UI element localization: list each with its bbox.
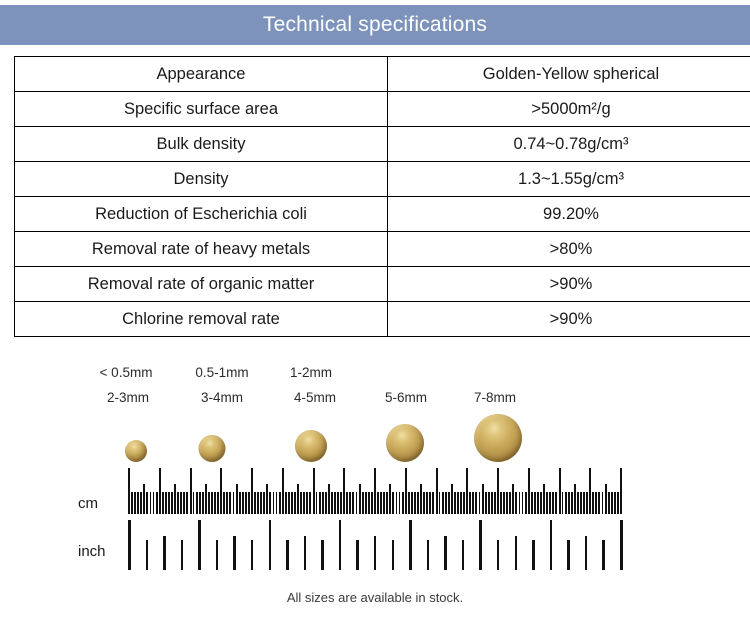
ruler-tick-cm	[436, 468, 438, 514]
size-label: 2-3mm	[107, 390, 149, 405]
ruler-tick-cm	[177, 492, 179, 514]
ruler-tick-cm	[497, 468, 499, 514]
ruler-tick-cm	[263, 492, 265, 514]
ruler-tick-cm	[540, 492, 542, 514]
ruler-tick-cm	[543, 484, 545, 514]
ruler-tick-cm	[420, 484, 422, 514]
ruler-tick-cm	[279, 492, 281, 514]
ruler-tick-cm	[180, 492, 182, 514]
ruler-tick-cm	[183, 492, 185, 514]
ruler-tick-cm	[494, 492, 496, 514]
ruler-tick-cm	[589, 468, 591, 514]
ruler-tick-cm	[525, 492, 527, 514]
ruler-tick-cm	[479, 492, 481, 514]
ruler-tick-cm	[254, 492, 256, 514]
spec-value-cell: 0.74~0.78g/cm³	[388, 127, 750, 162]
spec-label-cell: Bulk density	[15, 127, 388, 162]
ruler-tick-cm	[319, 492, 321, 514]
sphere-sample-7-8mm	[474, 414, 522, 462]
ruler-tick-cm	[469, 492, 471, 514]
ruler-tick-cm	[549, 492, 551, 514]
ruler-tick-cm	[371, 492, 373, 514]
ruler-tick-cm	[577, 492, 579, 514]
ruler-tick-cm	[620, 468, 622, 514]
ruler-tick-cm	[140, 492, 142, 514]
ruler-tick-cm	[531, 492, 533, 514]
ruler-tick-cm	[611, 492, 613, 514]
ruler-tick-inch	[462, 540, 464, 570]
ruler-inch: inch	[0, 518, 750, 570]
ruler-tick-cm	[552, 492, 554, 514]
ruler-tick-cm	[399, 492, 401, 514]
ruler-tick-cm	[562, 492, 564, 514]
size-label: 1-2mm	[290, 365, 332, 380]
spec-label-cell: Appearance	[15, 57, 388, 92]
ruler-tick-cm	[162, 492, 164, 514]
ruler-tick-cm	[392, 492, 394, 514]
page-title: Technical specifications	[263, 13, 487, 37]
ruler-tick-cm	[365, 492, 367, 514]
ruler-tick-cm	[506, 492, 508, 514]
technical-specifications-table: AppearanceGolden-Yellow sphericalSpecifi…	[14, 56, 750, 337]
ruler-tick-cm	[285, 492, 287, 514]
ruler-tick-cm	[389, 484, 391, 514]
ruler-tick-cm	[512, 484, 514, 514]
ruler-tick-cm	[174, 484, 176, 514]
ruler-tick-cm	[534, 492, 536, 514]
spec-value-cell: Golden-Yellow spherical	[388, 57, 750, 92]
table-row: Chlorine removal rate>90%	[15, 302, 750, 337]
table-row: Density1.3~1.55g/cm³	[15, 162, 750, 197]
ruler-tick-cm	[362, 492, 364, 514]
ruler-tick-cm	[463, 492, 465, 514]
ruler-tick-cm	[571, 492, 573, 514]
ruler-tick-cm	[559, 468, 561, 514]
ruler-tick-cm	[322, 492, 324, 514]
ruler-tick-cm	[454, 492, 456, 514]
ruler-tick-inch	[427, 540, 429, 570]
spec-table-container: AppearanceGolden-Yellow sphericalSpecifi…	[14, 56, 736, 337]
ruler-tick-cm	[220, 468, 222, 514]
ruler-tick-cm	[196, 492, 198, 514]
ruler-tick-cm	[503, 492, 505, 514]
size-chart: < 0.5mm0.5-1mm1-2mm 2-3mm3-4mm4-5mm5-6mm…	[0, 352, 750, 621]
ruler-tick-cm	[340, 492, 342, 514]
ruler-tick-inch	[497, 540, 499, 570]
ruler-tick-cm	[226, 492, 228, 514]
ruler-tick-cm	[574, 484, 576, 514]
ruler-tick-cm	[605, 484, 607, 514]
ruler-tick-cm	[346, 492, 348, 514]
spec-value-cell: >80%	[388, 232, 750, 267]
ruler-tick-cm	[242, 492, 244, 514]
ruler-tick-cm	[500, 492, 502, 514]
table-row: Removal rate of organic matter>90%	[15, 267, 750, 302]
ruler-tick-cm	[291, 492, 293, 514]
ruler-tick-cm	[282, 468, 284, 514]
ruler-tick-cm	[190, 468, 192, 514]
ruler-tick-cm	[236, 484, 238, 514]
ruler-tick-cm	[408, 492, 410, 514]
ruler-tick-cm	[248, 492, 250, 514]
ruler-tick-cm	[614, 492, 616, 514]
ruler-tick-cm	[325, 492, 327, 514]
ruler-tick-cm	[488, 492, 490, 514]
ruler-tick-cm	[131, 492, 133, 514]
ruler-tick-inch	[339, 520, 342, 570]
ruler-tick-inch	[374, 536, 376, 570]
ruler-tick-cm	[598, 492, 600, 514]
ruler-tick-inch	[286, 540, 288, 570]
ruler-cm-ticks	[128, 466, 620, 514]
ruler-tick-cm	[380, 492, 382, 514]
ruler-tick-inch	[128, 520, 131, 570]
size-label: 3-4mm	[201, 390, 243, 405]
ruler-tick-cm	[349, 492, 351, 514]
ruler-tick-cm	[276, 492, 278, 514]
table-row: Removal rate of heavy metals>80%	[15, 232, 750, 267]
ruler-tick-cm	[485, 492, 487, 514]
header-banner: Technical specifications	[0, 5, 750, 45]
ruler-tick-cm	[356, 492, 358, 514]
ruler-tick-inch	[532, 540, 534, 570]
ruler-tick-cm	[199, 492, 201, 514]
ruler-tick-cm	[515, 492, 517, 514]
ruler-tick-cm	[294, 492, 296, 514]
ruler-tick-cm	[309, 492, 311, 514]
ruler-tick-cm	[128, 468, 130, 514]
ruler-tick-cm	[245, 492, 247, 514]
ruler-tick-cm	[368, 492, 370, 514]
table-row: Bulk density0.74~0.78g/cm³	[15, 127, 750, 162]
ruler-tick-cm	[445, 492, 447, 514]
ruler-tick-cm	[205, 484, 207, 514]
ruler-tick-cm	[359, 484, 361, 514]
ruler-tick-inch	[515, 536, 517, 570]
ruler-tick-cm	[555, 492, 557, 514]
spec-value-cell: 1.3~1.55g/cm³	[388, 162, 750, 197]
ruler-tick-cm	[266, 484, 268, 514]
ruler-tick-inch	[198, 520, 201, 570]
ruler-tick-inch	[321, 540, 323, 570]
ruler-tick-cm	[159, 468, 161, 514]
ruler-tick-cm	[423, 492, 425, 514]
ruler-tick-cm	[211, 492, 213, 514]
ruler-tick-cm	[405, 468, 407, 514]
ruler-tick-cm	[223, 492, 225, 514]
ruler-tick-cm	[617, 492, 619, 514]
ruler-tick-cm	[451, 484, 453, 514]
ruler-tick-inch	[585, 536, 587, 570]
ruler-tick-cm	[214, 492, 216, 514]
ruler-tick-cm	[546, 492, 548, 514]
ruler-tick-cm	[429, 492, 431, 514]
ruler-tick-cm	[239, 492, 241, 514]
ruler-tick-inch	[392, 540, 394, 570]
ruler-tick-cm	[377, 492, 379, 514]
table-row: Reduction of Escherichia coli99.20%	[15, 197, 750, 232]
ruler-tick-cm	[396, 492, 398, 514]
table-body: AppearanceGolden-Yellow sphericalSpecifi…	[15, 57, 750, 337]
ruler-tick-cm	[482, 484, 484, 514]
ruler-tick-cm	[472, 492, 474, 514]
ruler-tick-cm	[334, 492, 336, 514]
ruler-tick-cm	[595, 492, 597, 514]
ruler-tick-cm	[288, 492, 290, 514]
ruler-tick-cm	[300, 492, 302, 514]
ruler-tick-cm	[565, 492, 567, 514]
ruler-tick-inch	[602, 540, 604, 570]
spec-value-cell: >5000m²/g	[388, 92, 750, 127]
ruler-tick-cm	[251, 468, 253, 514]
ruler-tick-cm	[229, 492, 231, 514]
sphere-sample-3-4mm	[199, 435, 226, 462]
ruler-cm: cm	[0, 464, 750, 514]
ruler-tick-inch	[269, 520, 272, 570]
ruler-tick-cm	[528, 468, 530, 514]
ruler-tick-cm	[193, 492, 195, 514]
ruler-tick-cm	[156, 492, 158, 514]
ruler-tick-inch	[479, 520, 482, 570]
ruler-tick-cm	[383, 492, 385, 514]
size-labels-row-top: < 0.5mm0.5-1mm1-2mm	[0, 365, 750, 385]
ruler-tick-cm	[432, 492, 434, 514]
ruler-tick-inch	[304, 536, 306, 570]
size-label: < 0.5mm	[100, 365, 153, 380]
ruler-tick-cm	[328, 484, 330, 514]
ruler-tick-inch	[409, 520, 412, 570]
ruler-tick-inch	[146, 540, 148, 570]
ruler-tick-cm	[586, 492, 588, 514]
ruler-tick-cm	[374, 468, 376, 514]
ruler-tick-cm	[343, 468, 345, 514]
ruler-tick-cm	[165, 492, 167, 514]
ruler-tick-cm	[273, 492, 275, 514]
ruler-tick-cm	[150, 492, 152, 514]
ruler-tick-cm	[153, 492, 155, 514]
ruler-tick-inch	[444, 536, 446, 570]
size-label: 7-8mm	[474, 390, 516, 405]
ruler-tick-inch	[216, 540, 218, 570]
ruler-tick-cm	[602, 492, 604, 514]
size-labels-row-bottom: 2-3mm3-4mm4-5mm5-6mm7-8mm	[0, 390, 750, 410]
table-row: AppearanceGolden-Yellow spherical	[15, 57, 750, 92]
ruler-tick-inch	[550, 520, 553, 570]
ruler-tick-cm	[316, 492, 318, 514]
ruler-tick-cm	[522, 492, 524, 514]
ruler-tick-cm	[426, 492, 428, 514]
ruler-inch-label: inch	[78, 543, 106, 560]
size-label: 5-6mm	[385, 390, 427, 405]
ruler-cm-label: cm	[78, 495, 98, 512]
ruler-tick-cm	[580, 492, 582, 514]
ruler-tick-cm	[519, 492, 521, 514]
ruler-tick-inch	[181, 540, 183, 570]
spec-value-cell: >90%	[388, 302, 750, 337]
ruler-tick-cm	[297, 484, 299, 514]
ruler-tick-cm	[352, 492, 354, 514]
ruler-tick-cm	[475, 492, 477, 514]
ruler-tick-cm	[208, 492, 210, 514]
ruler-tick-cm	[608, 492, 610, 514]
size-label: 4-5mm	[294, 390, 336, 405]
ruler-tick-cm	[414, 492, 416, 514]
ruler-tick-cm	[568, 492, 570, 514]
ruler-tick-cm	[448, 492, 450, 514]
ruler-tick-cm	[171, 492, 173, 514]
ruler-tick-cm	[509, 492, 511, 514]
ruler-tick-inch	[356, 540, 358, 570]
ruler-tick-cm	[217, 492, 219, 514]
spec-value-cell: 99.20%	[388, 197, 750, 232]
ruler-tick-inch	[567, 540, 569, 570]
ruler-tick-cm	[386, 492, 388, 514]
ruler-tick-cm	[537, 492, 539, 514]
ruler-tick-cm	[402, 492, 404, 514]
ruler-tick-inch	[620, 520, 623, 570]
spec-label-cell: Removal rate of heavy metals	[15, 232, 388, 267]
ruler-tick-cm	[233, 492, 235, 514]
spec-label-cell: Reduction of Escherichia coli	[15, 197, 388, 232]
ruler-tick-cm	[202, 492, 204, 514]
ruler-tick-cm	[134, 492, 136, 514]
spec-value-cell: >90%	[388, 267, 750, 302]
spec-label-cell: Removal rate of organic matter	[15, 267, 388, 302]
ruler-tick-cm	[457, 492, 459, 514]
ruler-tick-cm	[583, 492, 585, 514]
size-label: 0.5-1mm	[195, 365, 248, 380]
ruler-inch-ticks	[128, 520, 620, 570]
sphere-sample-4-5mm	[295, 430, 327, 462]
ruler-tick-cm	[460, 492, 462, 514]
ruler-tick-cm	[303, 492, 305, 514]
stock-availability-caption: All sizes are available in stock.	[0, 590, 750, 605]
ruler-tick-cm	[466, 468, 468, 514]
ruler-tick-cm	[168, 492, 170, 514]
ruler-tick-cm	[442, 492, 444, 514]
ruler-tick-inch	[163, 536, 165, 570]
ruler-tick-cm	[143, 484, 145, 514]
ruler-tick-cm	[337, 492, 339, 514]
spec-label-cell: Chlorine removal rate	[15, 302, 388, 337]
spec-label-cell: Density	[15, 162, 388, 197]
ruler-tick-cm	[592, 492, 594, 514]
sphere-sample-2-3mm	[125, 440, 147, 462]
sphere-sample-5-6mm	[386, 424, 424, 462]
ruler-tick-cm	[313, 468, 315, 514]
sphere-samples	[0, 410, 750, 462]
ruler-tick-inch	[233, 536, 235, 570]
ruler-tick-cm	[257, 492, 259, 514]
ruler-tick-cm	[260, 492, 262, 514]
ruler-tick-cm	[146, 492, 148, 514]
ruler-tick-cm	[269, 492, 271, 514]
ruler-tick-cm	[186, 492, 188, 514]
spec-label-cell: Specific surface area	[15, 92, 388, 127]
ruler-tick-cm	[411, 492, 413, 514]
table-row: Specific surface area>5000m²/g	[15, 92, 750, 127]
ruler-tick-cm	[306, 492, 308, 514]
ruler-tick-cm	[417, 492, 419, 514]
ruler-tick-cm	[439, 492, 441, 514]
ruler-tick-inch	[251, 540, 253, 570]
ruler-tick-cm	[331, 492, 333, 514]
ruler-tick-cm	[137, 492, 139, 514]
ruler-tick-cm	[491, 492, 493, 514]
